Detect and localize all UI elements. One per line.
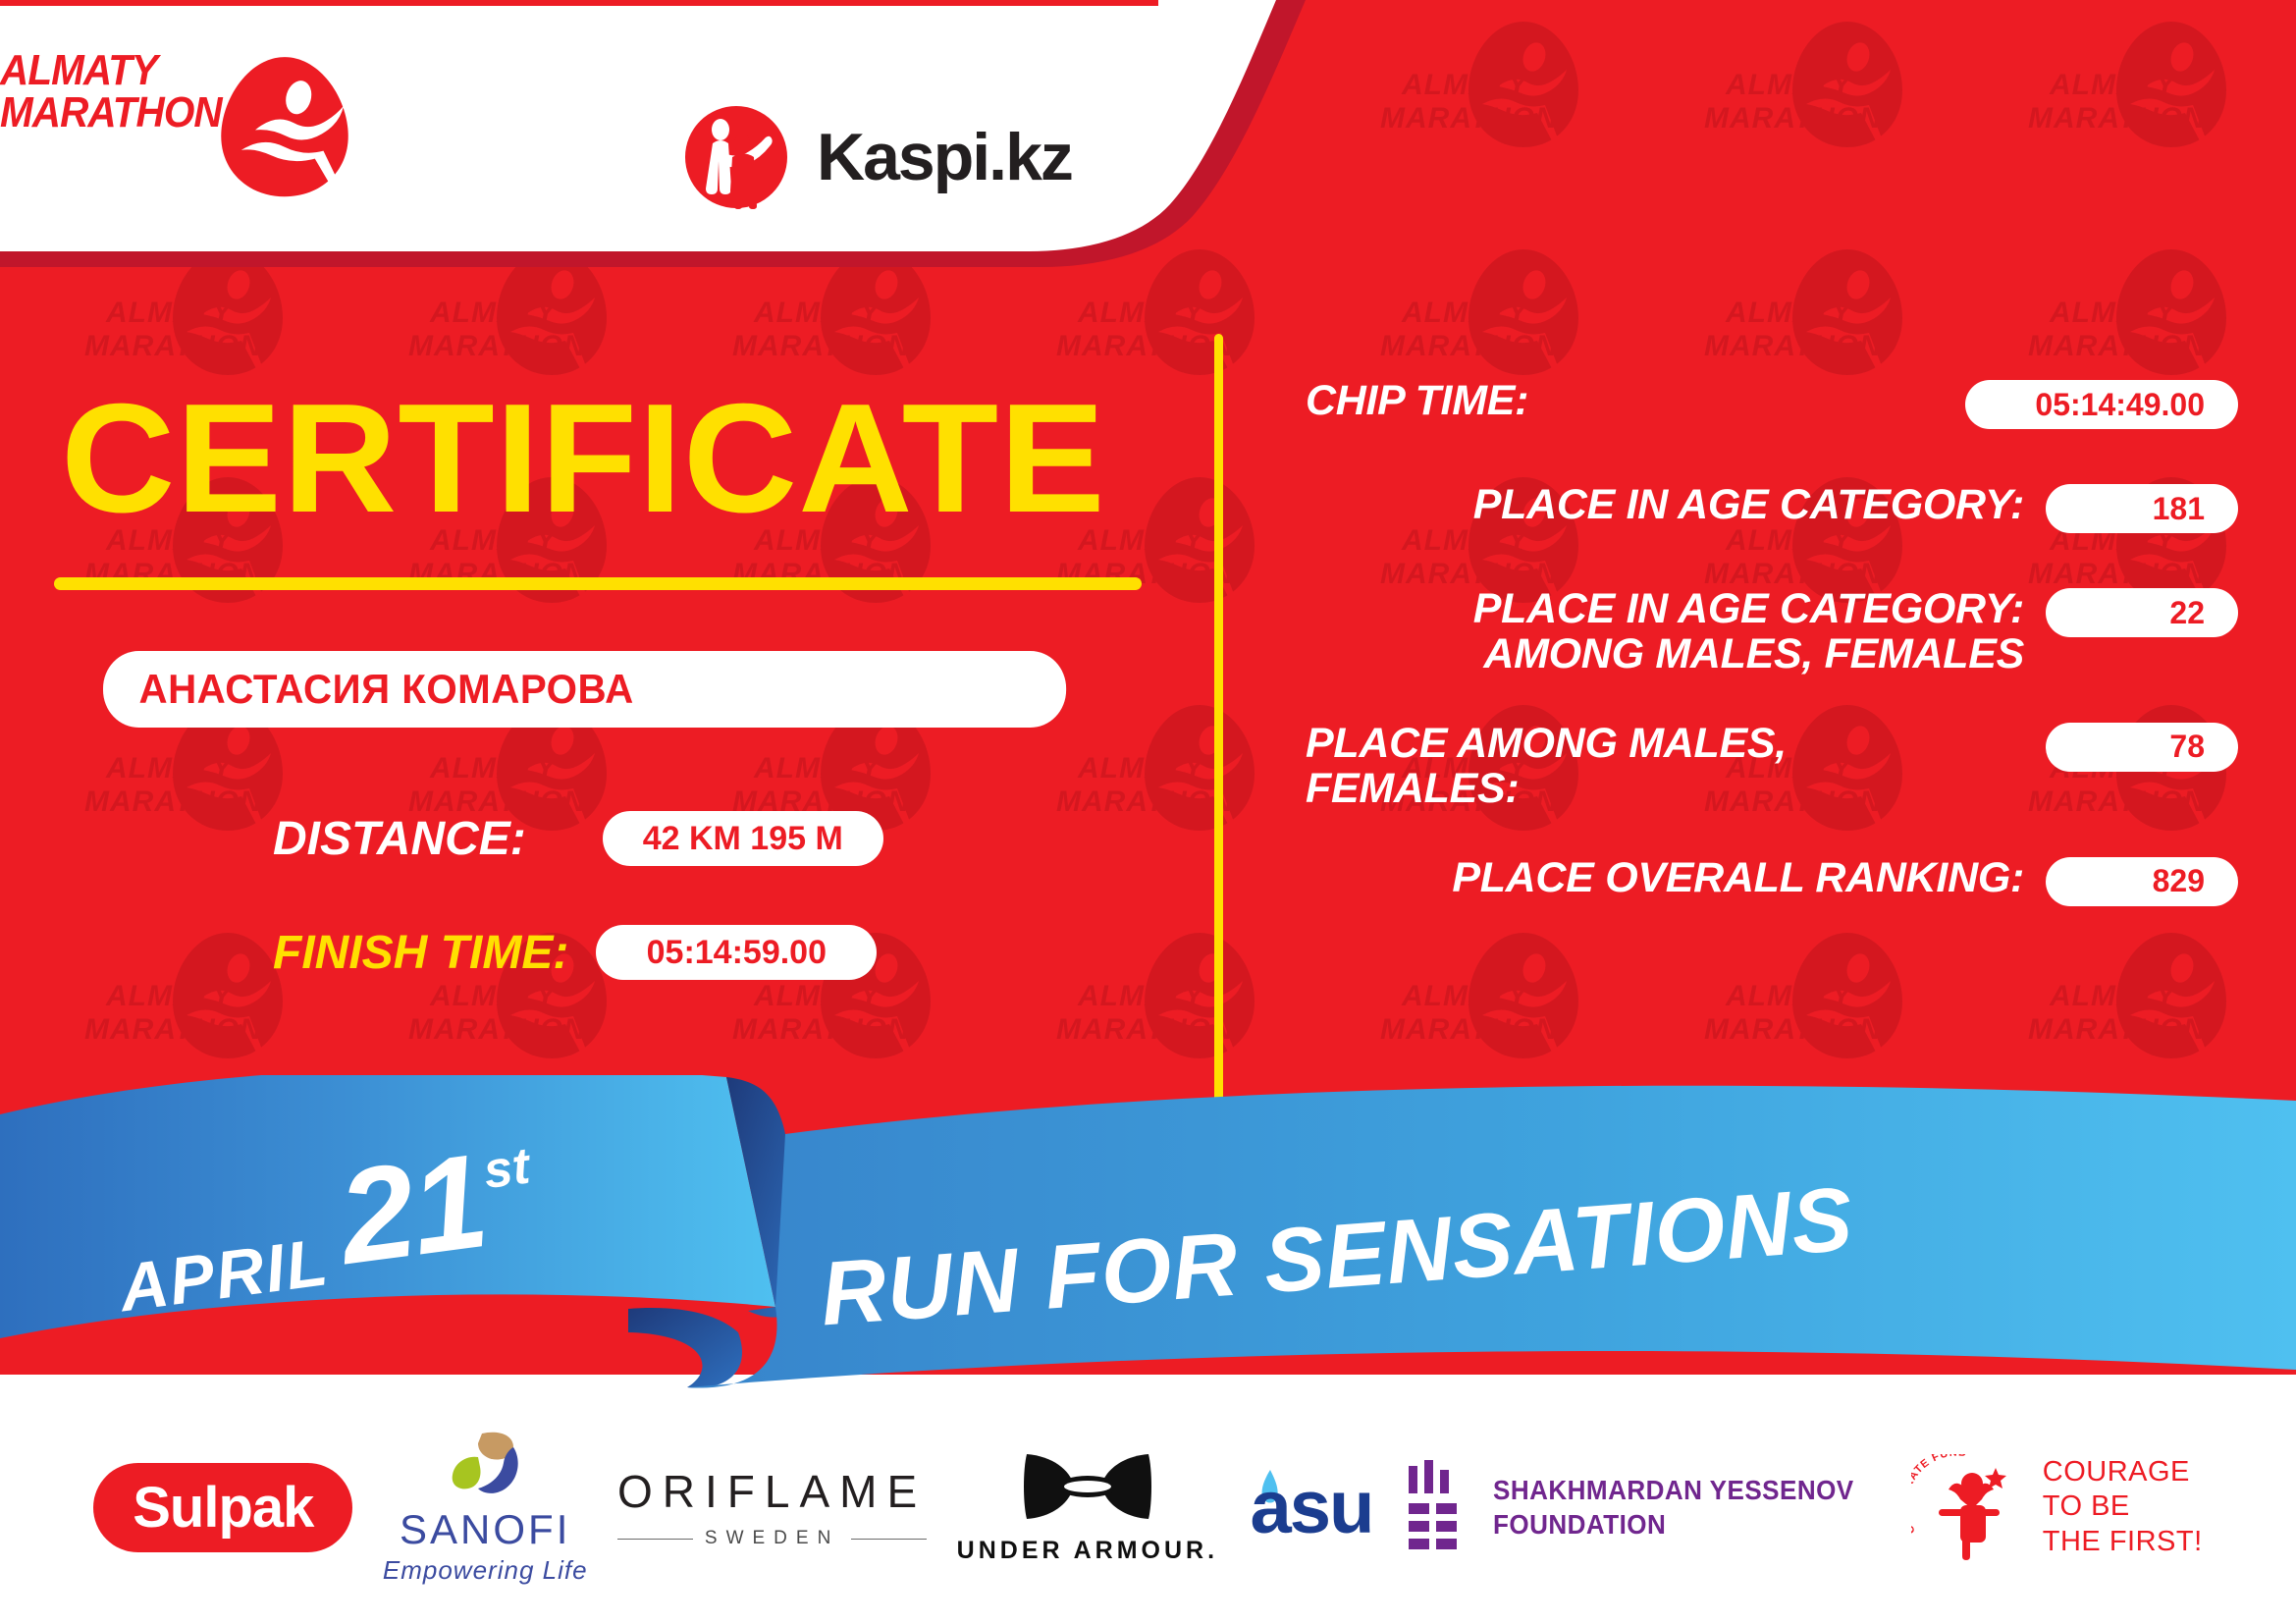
stat-row: PLACE IN AGE CATEGORY:181 bbox=[1306, 482, 2238, 543]
under-armour-icon bbox=[1023, 1450, 1152, 1527]
sponsor-courage-to-be-first: CORPORATE FUND COURAGE TO BE THE FIRST! bbox=[1911, 1454, 2203, 1560]
stat-value: 181 bbox=[2046, 484, 2238, 533]
courage-runner-icon: CORPORATE FUND bbox=[1911, 1454, 2027, 1560]
stat-label: PLACE OVERALL RANKING: bbox=[1306, 855, 2046, 900]
sponsor-logos: Sulpak SANOFI Empowering Life ORIFLAME S… bbox=[0, 1414, 2296, 1600]
sponsor-yessenov-foundation: SHAKHMARDAN YESSENOV FOUNDATION bbox=[1403, 1460, 1881, 1554]
page-title: CERTIFICATE bbox=[61, 381, 1106, 536]
under-armour-wordmark: UNDER ARMOUR. bbox=[957, 1537, 1218, 1565]
stat-value: 22 bbox=[2046, 588, 2238, 637]
sanofi-wordmark: SANOFI bbox=[400, 1506, 570, 1553]
courage-line2: TO BE bbox=[2043, 1490, 2130, 1522]
stat-label: CHIP TIME: bbox=[1306, 378, 1965, 423]
stat-row: PLACE IN AGE CATEGORY:AMONG MALES, FEMAL… bbox=[1306, 586, 2238, 677]
asu-wordmark: asu bbox=[1251, 1465, 1373, 1550]
courage-wordmark: COURAGE TO BE THE FIRST! bbox=[2043, 1455, 2203, 1559]
sanofi-icon bbox=[441, 1430, 529, 1504]
yessenov-line2: FOUNDATION bbox=[1493, 1509, 1666, 1540]
certificate-canvas: ALMATY MARATHON ALMATY MARATHON bbox=[0, 0, 2296, 1624]
stats-column: CHIP TIME:05:14:49.00PLACE IN AGE CATEGO… bbox=[1306, 378, 2238, 959]
ribbon-date-day: 21 bbox=[331, 1123, 494, 1294]
stat-label: PLACE IN AGE CATEGORY: bbox=[1306, 482, 2046, 527]
sanofi-tagline: Empowering Life bbox=[383, 1555, 588, 1586]
stat-value: 05:14:49.00 bbox=[1965, 380, 2238, 429]
sponsor-under-armour: UNDER ARMOUR. bbox=[957, 1450, 1218, 1565]
yessenov-line1: SHAKHMARDAN YESSENOV bbox=[1493, 1475, 1854, 1505]
oriflame-sub: SWEDEN bbox=[617, 1528, 927, 1549]
sponsor-oriflame: ORIFLAME SWEDEN bbox=[617, 1465, 927, 1549]
ribbon-date-suffix: st bbox=[480, 1136, 533, 1201]
finish-time-value: 05:14:59.00 bbox=[596, 925, 877, 980]
column-divider bbox=[1214, 334, 1223, 1105]
sponsor-asu: asu bbox=[1249, 1464, 1373, 1550]
courage-line1: COURAGE bbox=[2043, 1456, 2190, 1488]
stat-label: PLACE IN AGE CATEGORY:AMONG MALES, FEMAL… bbox=[1306, 586, 2046, 677]
yessenov-wordmark: SHAKHMARDAN YESSENOV FOUNDATION bbox=[1493, 1473, 1854, 1542]
stat-row: PLACE AMONG MALES,FEMALES:78 bbox=[1306, 721, 2238, 812]
athlete-name-field: АНАСТАСИЯ КОМАРОВА bbox=[103, 651, 1066, 728]
finish-time-row: FINISH TIME: 05:14:59.00 bbox=[273, 925, 877, 980]
distance-label: DISTANCE: bbox=[273, 812, 526, 866]
finish-time-label: FINISH TIME: bbox=[273, 926, 568, 980]
sponsor-sulpak: Sulpak bbox=[93, 1463, 352, 1552]
courage-line3: THE FIRST! bbox=[2043, 1526, 2203, 1557]
yessenov-mark-icon bbox=[1403, 1460, 1471, 1554]
sponsor-sanofi: SANOFI Empowering Life bbox=[383, 1430, 588, 1586]
oriflame-wordmark: ORIFLAME bbox=[617, 1465, 927, 1518]
stat-value: 829 bbox=[2046, 857, 2238, 906]
stat-row: CHIP TIME:05:14:49.00 bbox=[1306, 378, 2238, 439]
stat-label: PLACE AMONG MALES,FEMALES: bbox=[1306, 721, 2046, 812]
distance-row: DISTANCE: 42 KM 195 M bbox=[273, 811, 883, 866]
sulpak-wordmark: Sulpak bbox=[93, 1463, 352, 1552]
stat-row: PLACE OVERALL RANKING:829 bbox=[1306, 855, 2238, 916]
stat-value: 78 bbox=[2046, 723, 2238, 772]
title-underline bbox=[54, 577, 1142, 590]
distance-value: 42 KM 195 M bbox=[603, 811, 883, 866]
